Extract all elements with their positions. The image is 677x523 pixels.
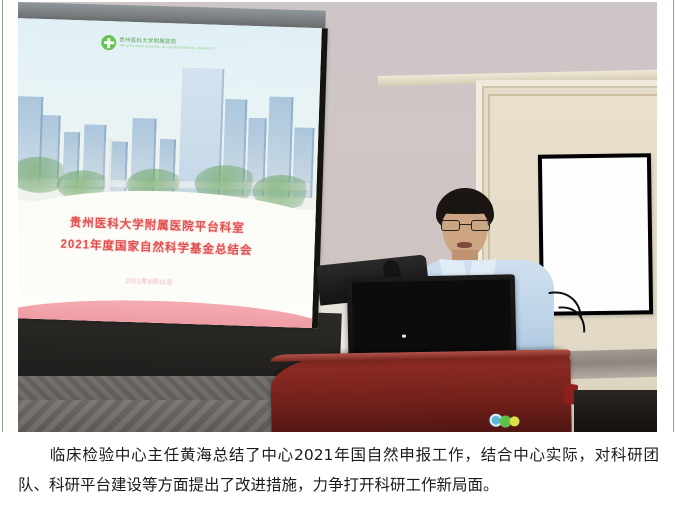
eyeglasses-icon bbox=[441, 220, 490, 231]
podium-side-shadow bbox=[574, 390, 657, 432]
eyeglasses-left-lens bbox=[441, 220, 460, 231]
page-border-left bbox=[2, 0, 3, 432]
green-medical-cross-icon bbox=[101, 35, 116, 50]
article-photo: 贵州医科大学附属医院 THE AFFILIATED HOSPITAL OF GU… bbox=[18, 2, 657, 432]
eyeglasses-bridge bbox=[460, 224, 471, 225]
monitor-indicator-dot bbox=[402, 335, 406, 338]
projection-screen: 贵州医科大学附属医院 THE AFFILIATED HOSPITAL OF GU… bbox=[18, 18, 328, 328]
presentation-slide: 贵州医科大学附属医院 THE AFFILIATED HOSPITAL OF GU… bbox=[18, 18, 322, 328]
caption-text: 临床检验中心主任黄海总结了中心2021年国自然申报工作，结合中心实际，对科研团队… bbox=[18, 446, 659, 494]
monitor-screen bbox=[352, 279, 512, 356]
poster-sheet bbox=[542, 157, 649, 311]
article-caption: 临床检验中心主任黄海总结了中心2021年国自然申报工作，结合中心实际，对科研团队… bbox=[18, 440, 659, 500]
emblem-circle-yellow bbox=[509, 416, 519, 426]
eyeglasses-right-lens bbox=[471, 220, 490, 231]
article-photo-block: 贵州医科大学附属医院 THE AFFILIATED HOSPITAL OF GU… bbox=[0, 0, 677, 523]
podium bbox=[270, 349, 571, 432]
page-border-right bbox=[673, 0, 674, 432]
podium-emblem-icon bbox=[489, 412, 523, 429]
slide-logo-text: 贵州医科大学附属医院 THE AFFILIATED HOSPITAL OF GU… bbox=[119, 38, 216, 52]
slide-logo-text-en: THE AFFILIATED HOSPITAL OF GUIZHOU MEDIC… bbox=[119, 45, 216, 52]
presenter-mouth bbox=[457, 242, 472, 248]
